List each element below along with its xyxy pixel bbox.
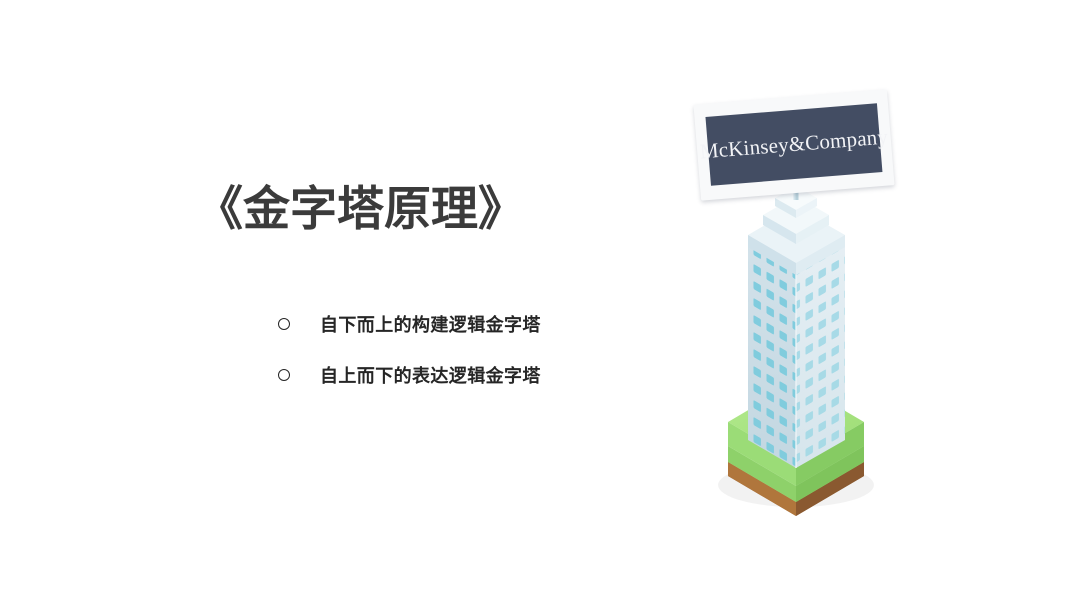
page-title: 《金字塔原理》 [196, 182, 525, 236]
list-item-label: 自上而下的表达逻辑金字塔 [320, 362, 541, 388]
hollow-circle-icon [278, 318, 290, 330]
bullet-list: 自下而上的构建逻辑金字塔 自上而下的表达逻辑金字塔 [278, 308, 678, 410]
list-item: 自下而上的构建逻辑金字塔 [278, 308, 678, 340]
list-item: 自上而下的表达逻辑金字塔 [278, 359, 678, 391]
list-item-label: 自下而上的构建逻辑金字塔 [320, 311, 541, 337]
slide-canvas: 《金字塔原理》 自下而上的构建逻辑金字塔 自上而下的表达逻辑金字塔 [0, 0, 1080, 608]
hollow-circle-icon [278, 369, 290, 381]
billboard-label: McKinsey&Company [699, 124, 889, 164]
mckinsey-billboard: McKinsey&Company [693, 89, 894, 200]
billboard-panel: McKinsey&Company [705, 103, 882, 186]
